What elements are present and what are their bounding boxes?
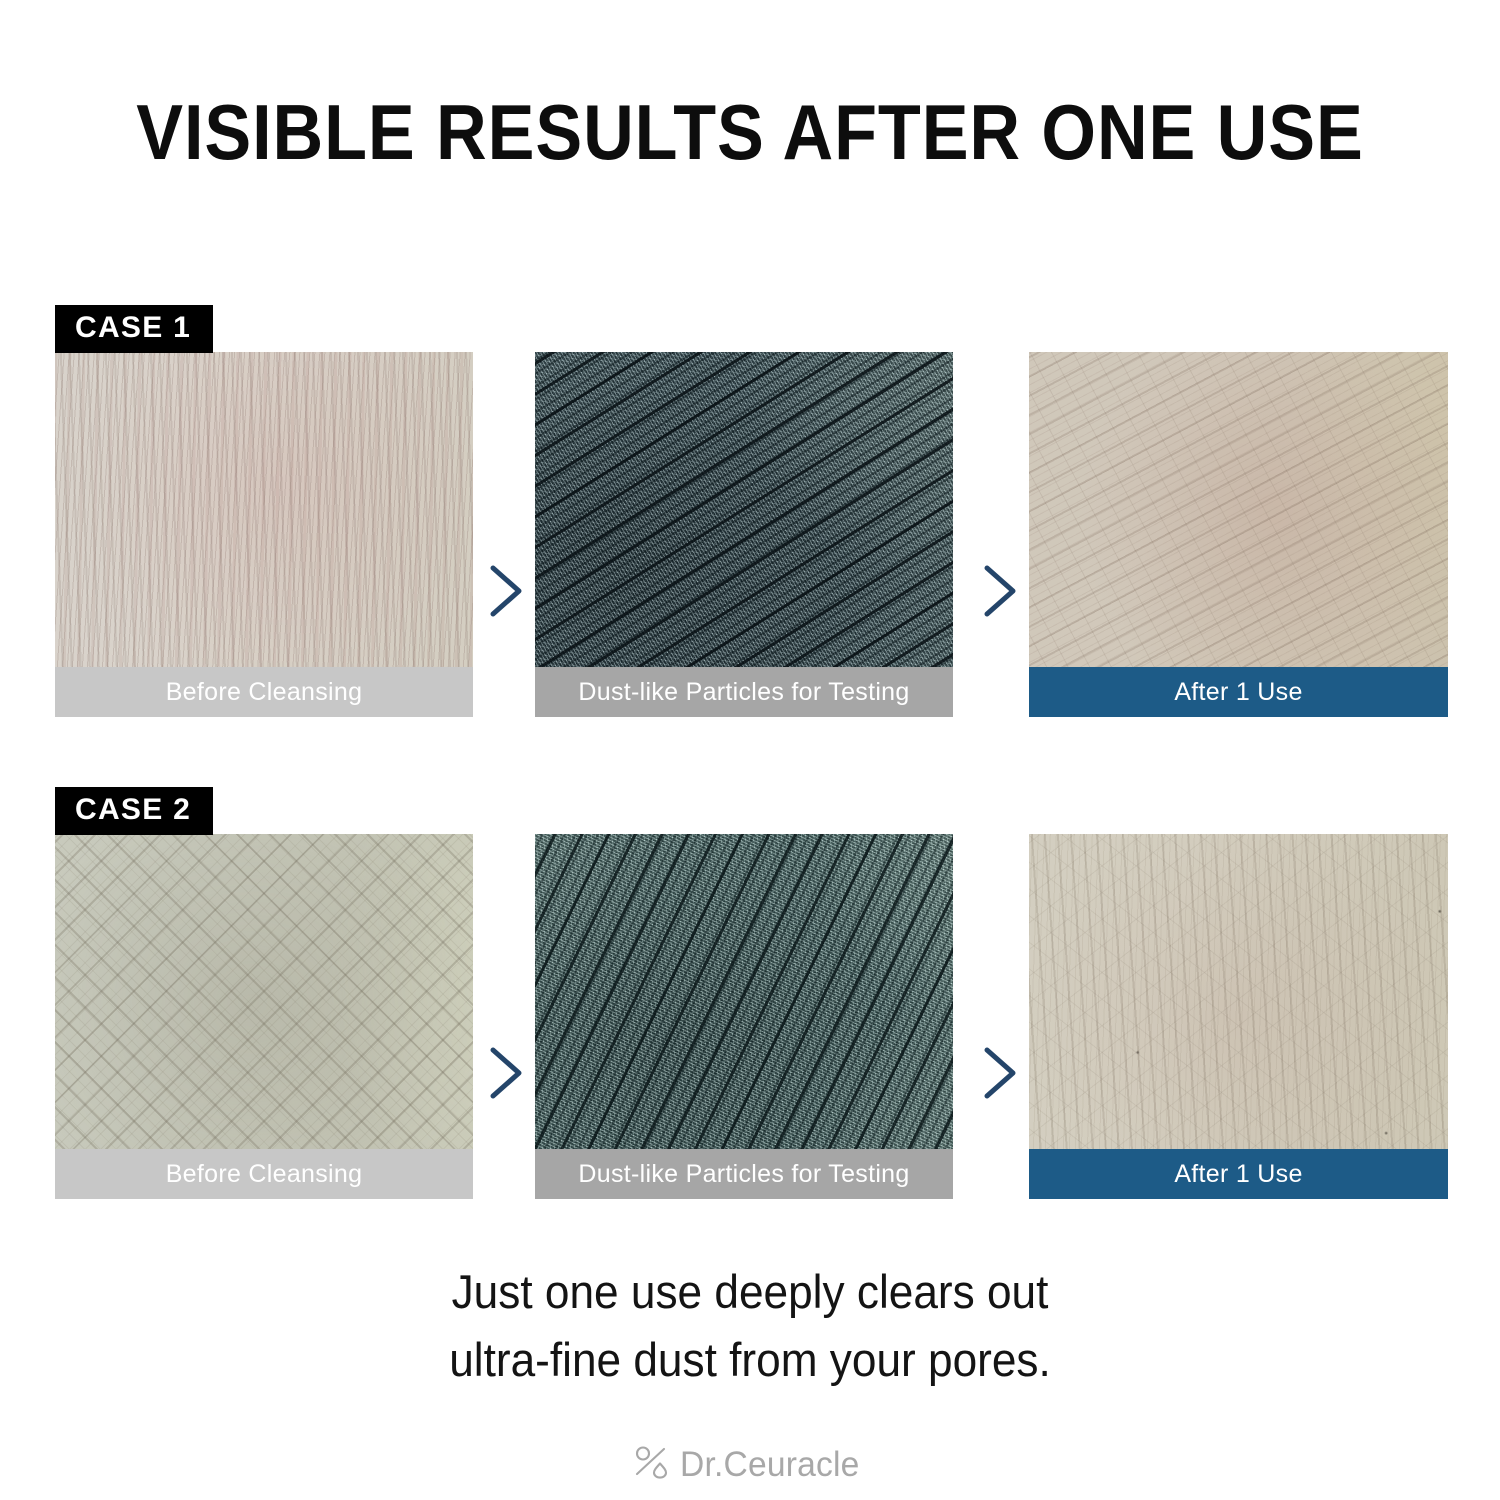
brand-logo: Dr.Ceuracle [0,1443,1500,1486]
percent-droplet-icon [633,1443,671,1486]
skin-texture-icon [1029,352,1448,667]
panel-dust-particles-case-2[interactable]: Dust-like Particles for Testing [535,834,953,1199]
panel-dust-particles-case-1[interactable]: Dust-like Particles for Testing [535,352,953,717]
case-label-1: CASE 1 [55,305,213,353]
skin-image-dust-case-2 [535,834,953,1149]
skin-image-before-case-2 [55,834,473,1149]
chevron-right-icon [483,1044,527,1102]
panel-caption-dust-case-1: Dust-like Particles for Testing [535,667,953,717]
panel-after-one-use-case-1[interactable]: After 1 Use [1029,352,1448,717]
brand-name: Dr.Ceuracle [680,1445,860,1485]
dust-texture-icon [535,352,953,667]
skin-texture-icon [1029,834,1448,1149]
panel-caption-after-case-2: After 1 Use [1029,1149,1448,1199]
panel-after-one-use-case-2[interactable]: After 1 Use [1029,834,1448,1199]
case-label-2: CASE 2 [55,787,213,835]
panel-caption-before-case-2: Before Cleansing [55,1149,473,1199]
skin-image-after-case-2 [1029,834,1448,1149]
chevron-right-icon [977,562,1021,620]
skin-texture-icon [55,352,473,667]
tagline: Just one use deeply clears out ultra-fin… [45,1258,1455,1394]
skin-image-before-case-1 [55,352,473,667]
panel-row-case-1: Before Cleansing Dust-like Particles for… [55,352,1447,717]
panel-before-cleansing-case-1[interactable]: Before Cleansing [55,352,473,717]
chevron-right-icon [977,1044,1021,1102]
tagline-line-1: Just one use deeply clears out [45,1258,1455,1326]
skin-texture-icon [55,834,473,1149]
panel-caption-dust-case-2: Dust-like Particles for Testing [535,1149,953,1199]
panel-caption-after-case-1: After 1 Use [1029,667,1448,717]
panel-row-case-2: Before Cleansing Dust-like Particles for… [55,834,1447,1199]
tagline-line-2: ultra-fine dust from your pores. [45,1326,1455,1394]
skin-image-after-case-1 [1029,352,1448,667]
page-title: VISIBLE RESULTS AFTER ONE USE [75,88,1425,176]
dust-texture-icon [535,834,953,1149]
panel-before-cleansing-case-2[interactable]: Before Cleansing [55,834,473,1199]
panel-caption-before-case-1: Before Cleansing [55,667,473,717]
skin-image-dust-case-1 [535,352,953,667]
chevron-right-icon [483,562,527,620]
